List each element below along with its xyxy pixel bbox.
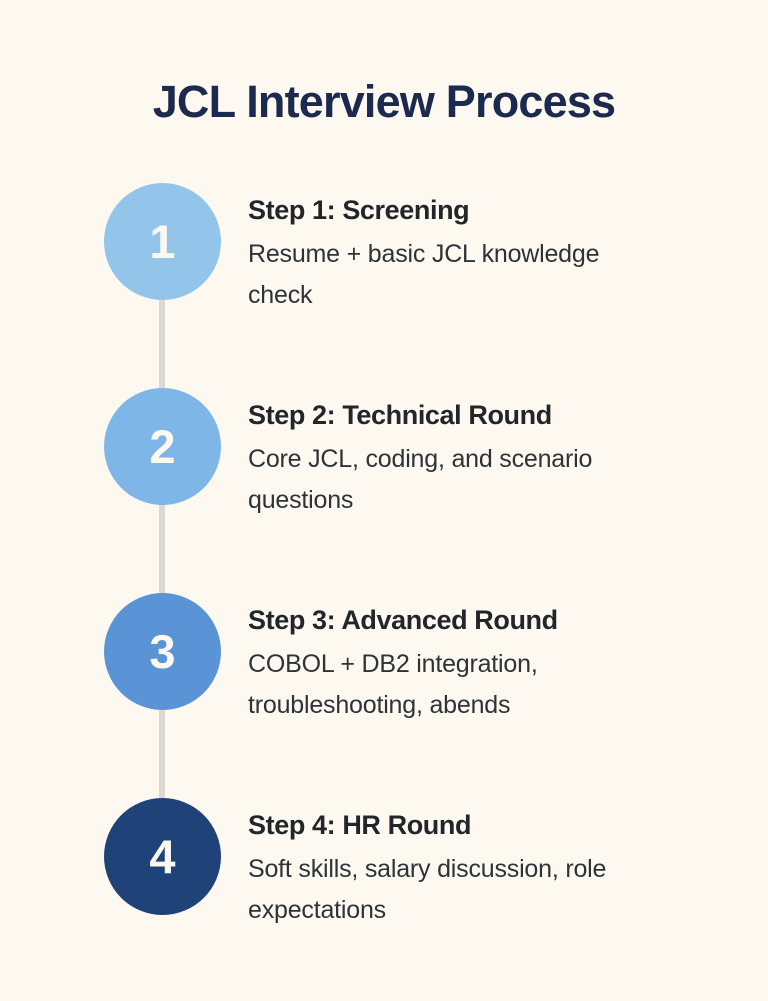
step-number-badge-4: 4 bbox=[104, 798, 221, 915]
timeline-step-1: 1 Step 1: Screening Resume + basic JCL k… bbox=[0, 183, 768, 388]
step-heading-4: Step 4: HR Round bbox=[248, 809, 668, 843]
step-content-3: Step 3: Advanced Round COBOL + DB2 integ… bbox=[248, 604, 668, 727]
step-content-4: Step 4: HR Round Soft skills, salary dis… bbox=[248, 809, 668, 932]
step-description-1: Resume + basic JCL knowledge check bbox=[248, 234, 668, 317]
timeline-step-3: 3 Step 3: Advanced Round COBOL + DB2 int… bbox=[0, 593, 768, 798]
step-number-label-3: 3 bbox=[149, 628, 175, 675]
infographic-poster: JCL Interview Process 1 Step 1: Screenin… bbox=[0, 0, 768, 1001]
step-number-badge-2: 2 bbox=[104, 388, 221, 505]
step-number-label-4: 4 bbox=[149, 833, 175, 880]
page-title: JCL Interview Process bbox=[0, 77, 768, 127]
step-content-2: Step 2: Technical Round Core JCL, coding… bbox=[248, 399, 668, 522]
timeline-step-2: 2 Step 2: Technical Round Core JCL, codi… bbox=[0, 388, 768, 593]
step-number-badge-3: 3 bbox=[104, 593, 221, 710]
step-description-2: Core JCL, coding, and scenario questions bbox=[248, 439, 668, 522]
step-description-4: Soft skills, salary discussion, role exp… bbox=[248, 849, 668, 932]
step-content-1: Step 1: Screening Resume + basic JCL kno… bbox=[248, 194, 668, 317]
step-heading-3: Step 3: Advanced Round bbox=[248, 604, 668, 638]
step-heading-2: Step 2: Technical Round bbox=[248, 399, 668, 433]
step-number-badge-1: 1 bbox=[104, 183, 221, 300]
step-heading-1: Step 1: Screening bbox=[248, 194, 668, 228]
step-number-label-2: 2 bbox=[149, 423, 175, 470]
steps-timeline: 1 Step 1: Screening Resume + basic JCL k… bbox=[0, 183, 768, 938]
step-description-3: COBOL + DB2 integration, troubleshooting… bbox=[248, 644, 668, 727]
step-number-label-1: 1 bbox=[149, 218, 175, 265]
timeline-step-4: 4 Step 4: HR Round Soft skills, salary d… bbox=[0, 798, 768, 938]
